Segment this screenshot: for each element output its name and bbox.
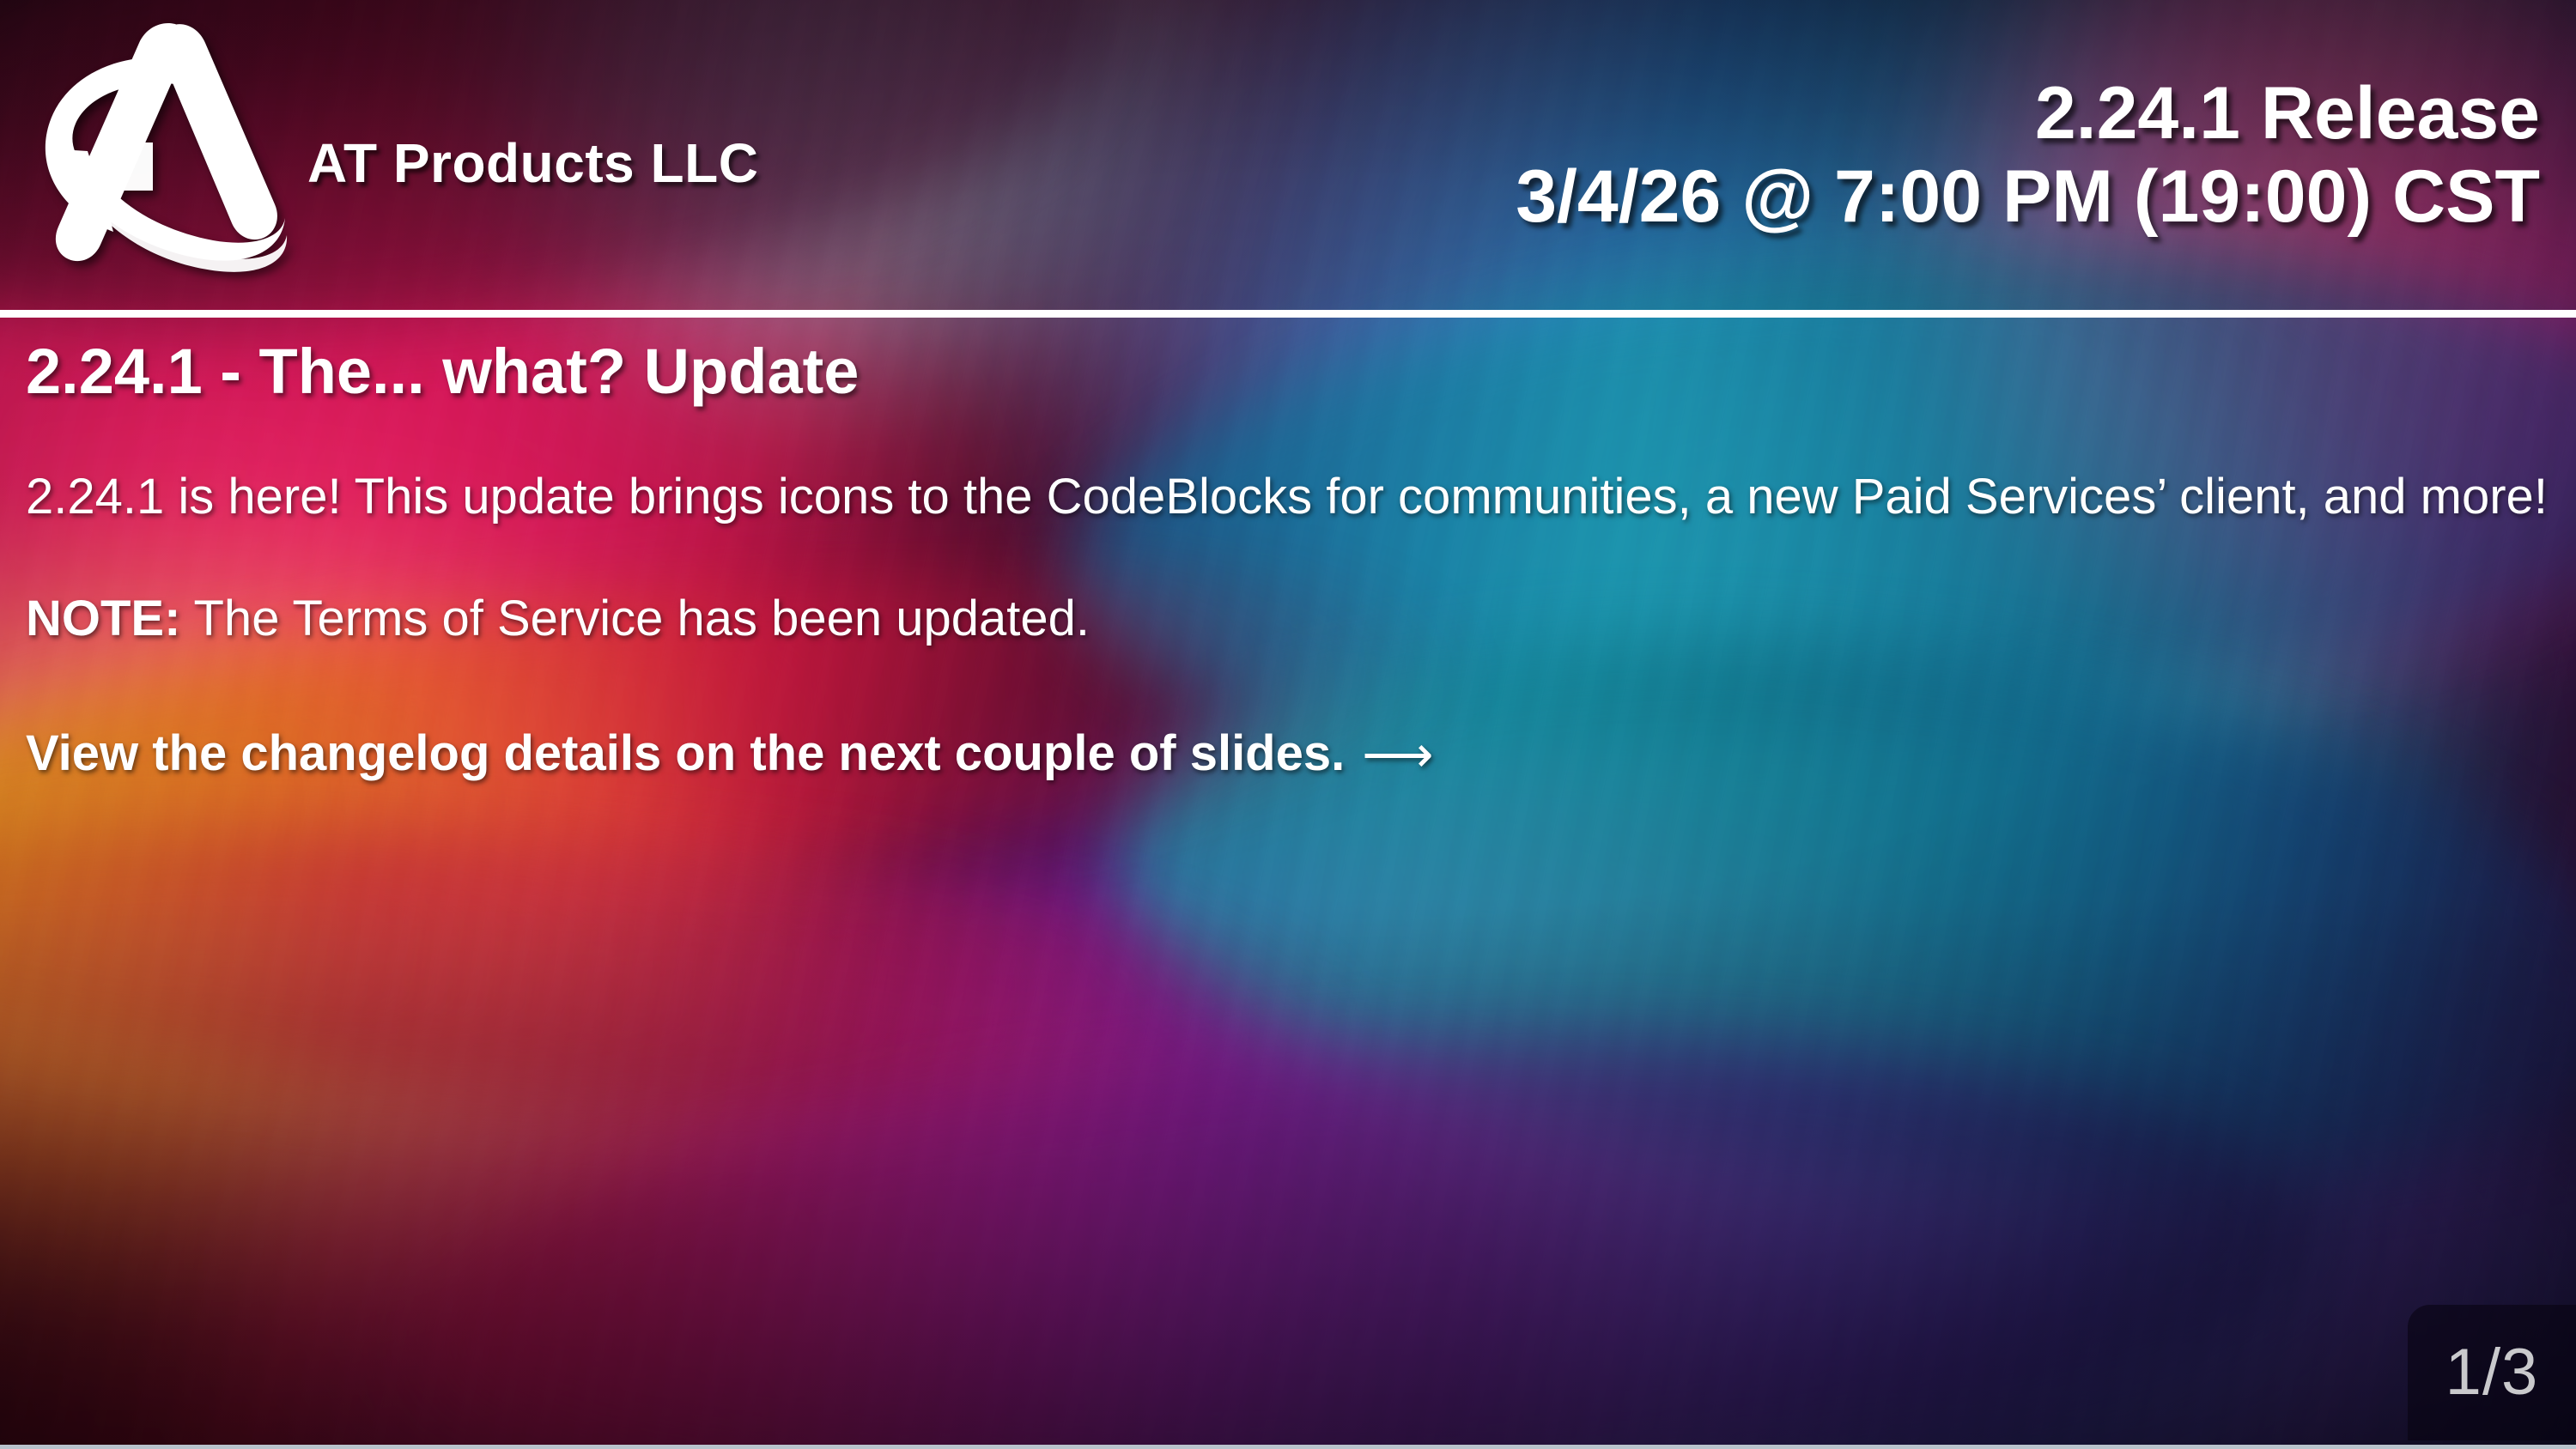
release-datetime: 3/4/26 @ 7:00 PM (19:00) CST [1516,155,2540,238]
page-indicator-label: 1/3 [2445,1340,2539,1405]
changelog-cta: View the changelog details on the next c… [26,718,2550,791]
page-indicator: 1/3 [2408,1305,2576,1440]
at-products-logo-icon [24,14,299,297]
release-title: 2.24.1 Release [1516,72,2540,155]
note-label: NOTE: [26,591,180,646]
release-slide: AT Products LLC 2.24.1 Release 3/4/26 @ … [0,0,2576,1449]
arrow-right-icon: ⟶ [1362,719,1433,791]
brand-lockup: AT Products LLC [24,14,758,297]
ribbon-red-sweep [0,785,1381,1155]
brand-name: AT Products LLC [307,131,758,195]
page-title: 2.24.1 - The... what? Update [26,336,2576,406]
note-text: The Terms of Service has been updated. [180,591,1090,646]
slide-header: AT Products LLC 2.24.1 Release 3/4/26 @ … [0,0,2576,318]
background-blob-crimson [137,927,1340,1449]
intro-paragraph: 2.24.1 is here! This update brings icons… [26,461,2550,533]
note-paragraph: NOTE: The Terms of Service has been upda… [26,583,2550,655]
slide-body: 2.24.1 - The... what? Update 2.24.1 is h… [0,336,2576,791]
release-info: 2.24.1 Release 3/4/26 @ 7:00 PM (19:00) … [1516,72,2540,238]
changelog-cta-text: View the changelog details on the next c… [26,725,1345,781]
ribbon-violet-sweep [419,998,2329,1449]
background-blob-purple [653,755,2112,1449]
